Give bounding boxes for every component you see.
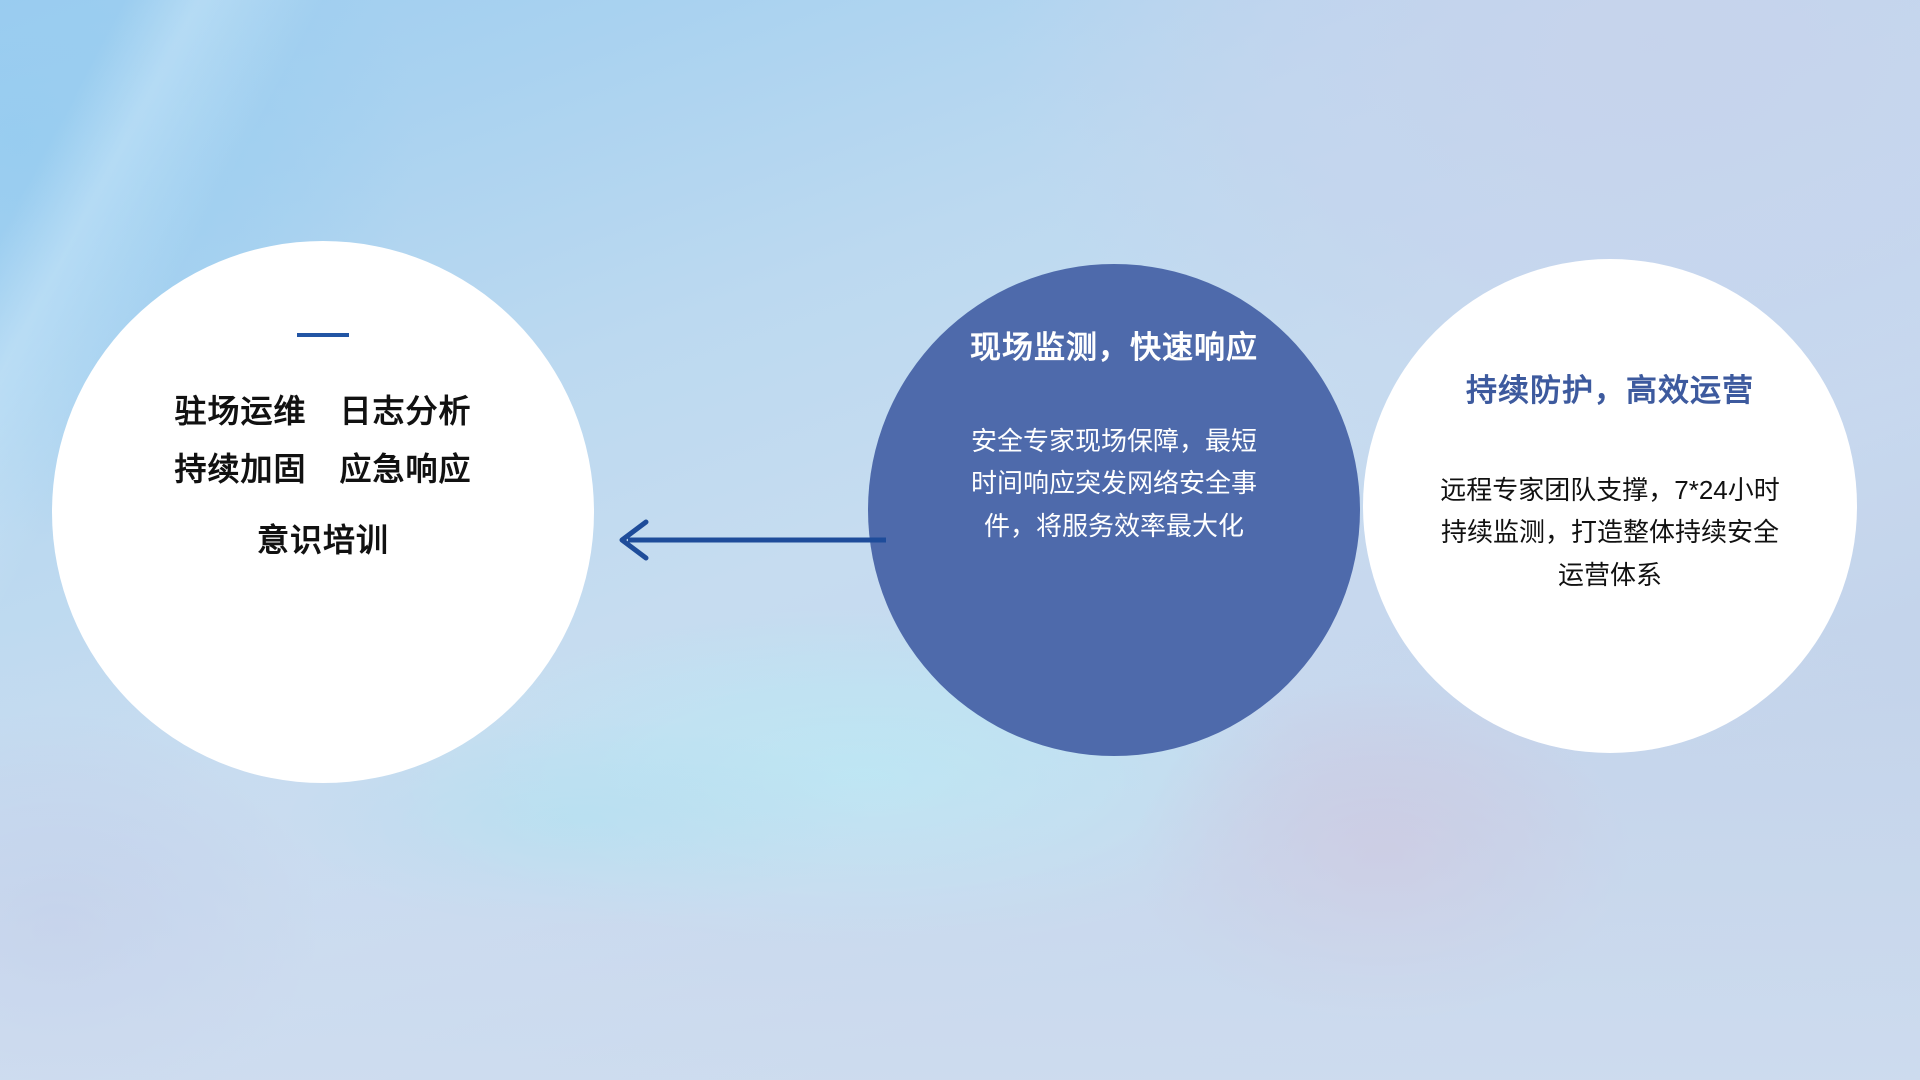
left-card-keyword-list: 驻场运维 日志分析 持续加固 应急响应 意识培训 xyxy=(174,387,471,566)
middle-card-body: 安全专家现场保障，最短时间响应突发网络安全事件，将服务效率最大化 xyxy=(969,420,1259,546)
divider-rule xyxy=(297,333,349,337)
right-card: 持续防护，高效运营 远程专家团队支撑，7*24小时持续监测，打造整体持续安全运营… xyxy=(1363,259,1857,753)
middle-card-title: 现场监测，快速响应 xyxy=(970,328,1258,368)
left-card-line-1: 驻场运维 日志分析 xyxy=(174,387,471,437)
flow-arrow-icon xyxy=(600,510,890,570)
right-card-body: 远程专家团队支撑，7*24小时持续监测，打造整体持续安全运营体系 xyxy=(1435,469,1785,595)
infographic-slide: 驻场运维 日志分析 持续加固 应急响应 意识培训 现场监测，快速响应 安全专家现… xyxy=(0,0,1920,1080)
left-card-line-2: 持续加固 应急响应 xyxy=(174,445,471,495)
left-card: 驻场运维 日志分析 持续加固 应急响应 意识培训 xyxy=(52,241,594,783)
left-card-line-3: 意识培训 xyxy=(257,516,389,566)
middle-card: 现场监测，快速响应 安全专家现场保障，最短时间响应突发网络安全事件，将服务效率最… xyxy=(868,264,1360,756)
right-card-title: 持续防护，高效运营 xyxy=(1466,371,1754,411)
